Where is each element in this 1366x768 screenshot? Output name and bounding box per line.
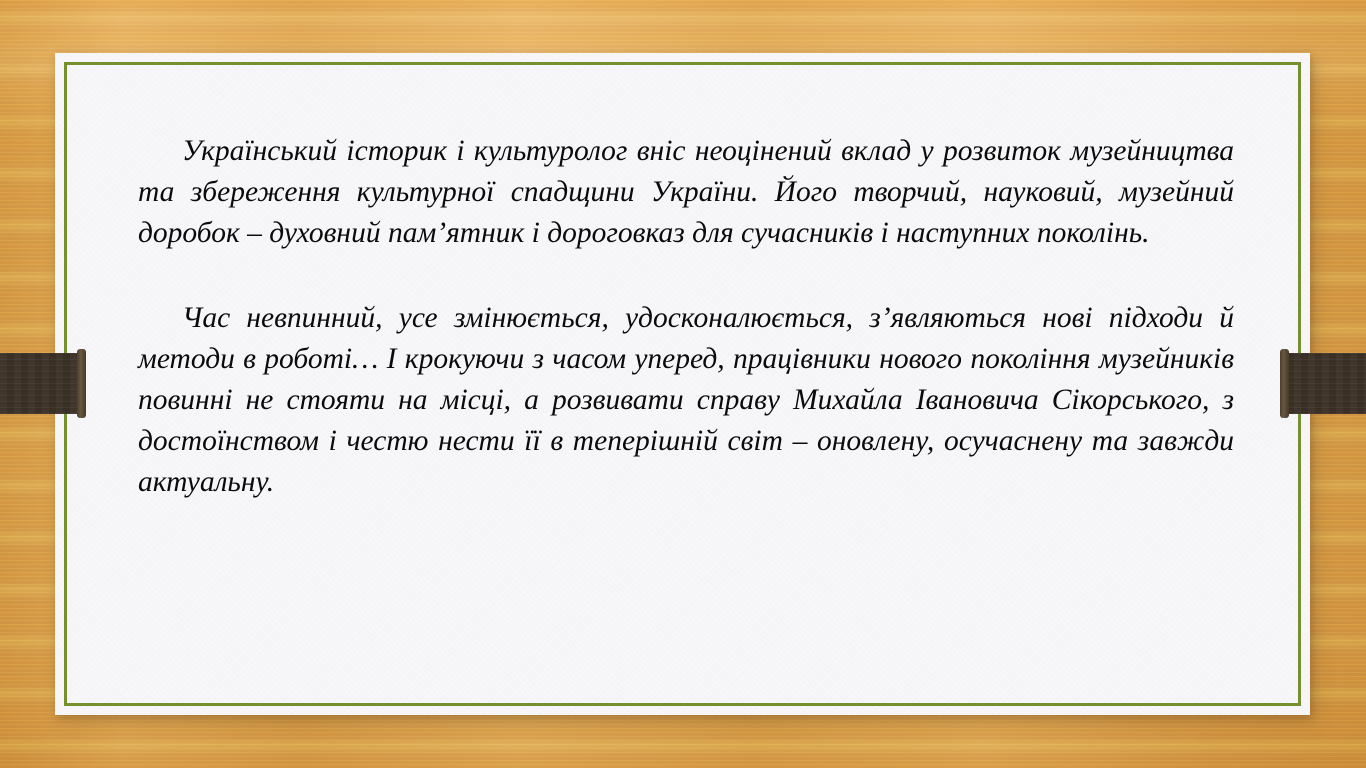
- slide-canvas: Український історик і культуролог вніс н…: [0, 0, 1366, 768]
- decorative-ribbon-right: [1280, 353, 1366, 414]
- decorative-ribbon-left: [0, 353, 86, 414]
- paragraph-1: Український історик і культуролог вніс н…: [138, 131, 1234, 254]
- ribbon-end-cap-right: [1280, 349, 1289, 418]
- content-card: Український історик і культуролог вніс н…: [55, 53, 1310, 715]
- body-text-block: Український історик і культуролог вніс н…: [138, 131, 1234, 503]
- ribbon-end-cap-left: [77, 349, 86, 418]
- paragraph-2: Час невпинний, усе змінюється, удосконал…: [138, 298, 1234, 503]
